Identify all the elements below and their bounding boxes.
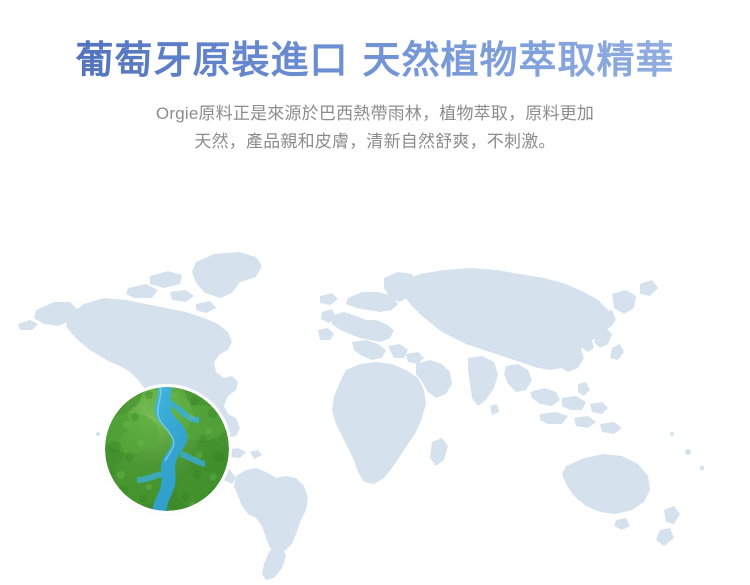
subtitle-line-1: Orgie原料正是來源於巴西熱帶雨林，植物萃取，原料更加: [62, 100, 688, 128]
headline-segment-2: 天然植物萃取精華: [363, 40, 675, 82]
page-title: 葡萄牙原裝進口天然植物萃取精華: [0, 38, 750, 84]
page-subtitle: Orgie原料正是來源於巴西熱帶雨林，植物萃取，原料更加 天然，產品親和皮膚，清…: [62, 100, 688, 155]
world-map-graphic: [0, 238, 750, 585]
headline-segment-1: 葡萄牙原裝進口: [75, 40, 348, 82]
world-map-stage: 巴西熱帶雨林: [0, 238, 750, 585]
promo-page: 葡萄牙原裝進口天然植物萃取精華 Orgie原料正是來源於巴西熱帶雨林，植物萃取，…: [0, 0, 750, 585]
rainforest-photo-medallion: [105, 387, 229, 511]
rainforest-photo: [105, 387, 229, 511]
subtitle-line-2: 天然，產品親和皮膚，清新自然舒爽，不刺激。: [62, 128, 688, 156]
